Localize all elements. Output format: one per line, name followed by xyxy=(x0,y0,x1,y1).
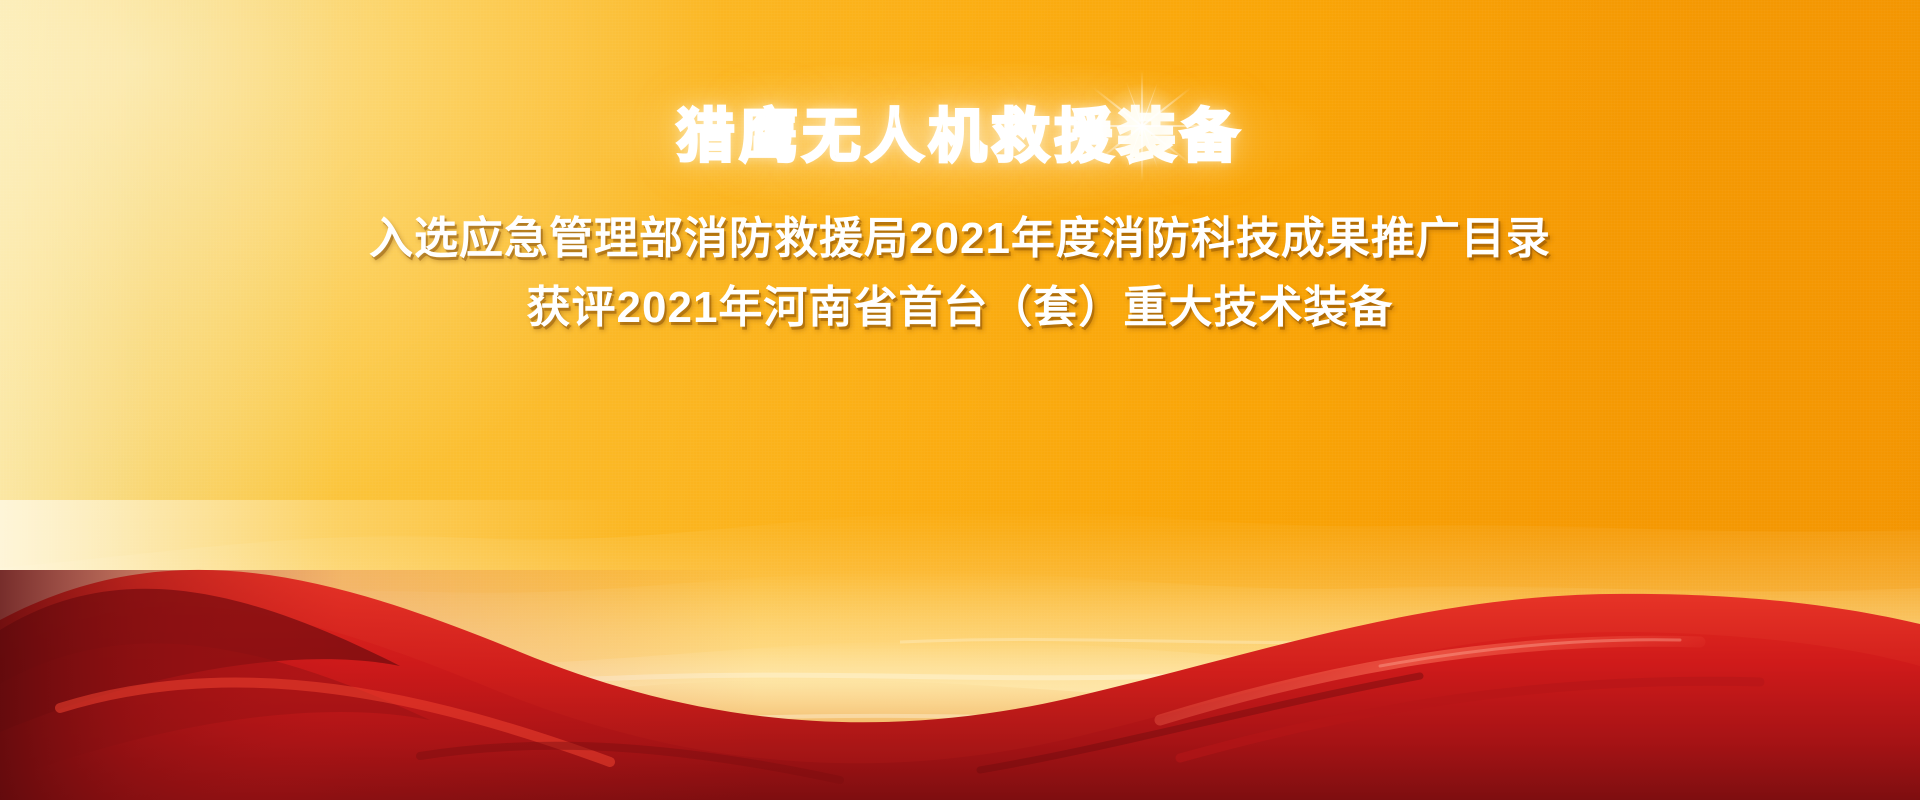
subtitle-line-1: 入选应急管理部消防救援局2021年度消防科技成果推广目录 xyxy=(369,210,1551,269)
banner-text-block: 猎鹰无人机救援装备 入选应急管理部消防救援局2021年度消防科技成果推广目录 获… xyxy=(0,0,1920,460)
red-silk-ribbon xyxy=(0,470,1920,800)
subtitle-group: 入选应急管理部消防救援局2021年度消防科技成果推广目录 获评2021年河南省首… xyxy=(369,210,1551,338)
main-title-wrapper: 猎鹰无人机救援装备 xyxy=(676,108,1243,166)
page-title: 猎鹰无人机救援装备 xyxy=(676,108,1243,166)
subtitle-line-2: 获评2021年河南省首台（套）重大技术装备 xyxy=(369,279,1551,338)
banner-canvas: 猎鹰无人机救援装备 入选应急管理部消防救援局2021年度消防科技成果推广目录 获… xyxy=(0,0,1920,800)
